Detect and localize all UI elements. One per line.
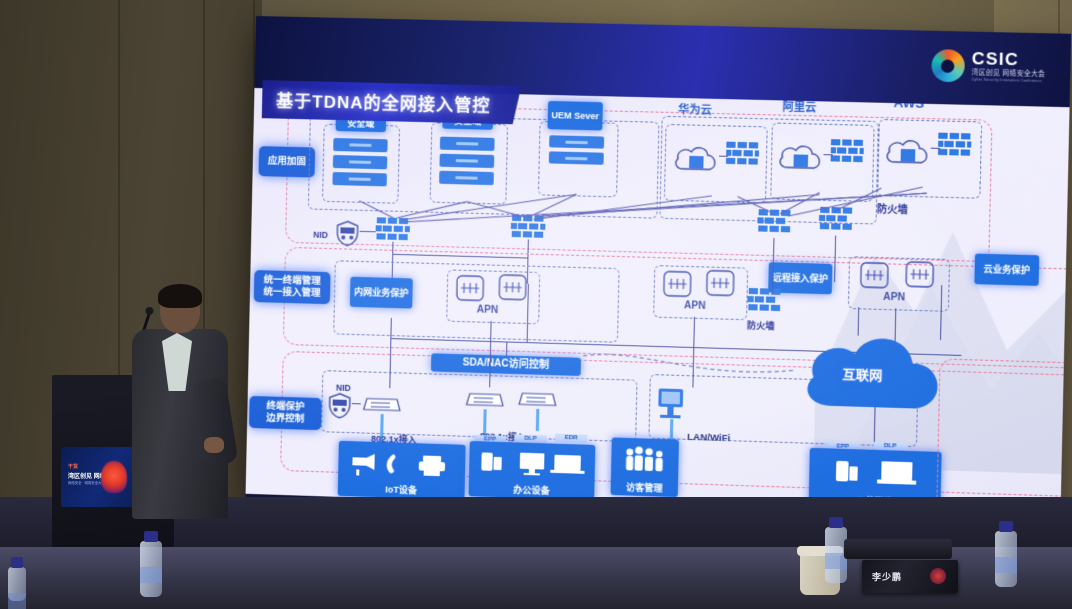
csic-spiral-logo-icon: [931, 49, 965, 82]
speaker-hair: [158, 284, 202, 308]
server-bar: [439, 154, 494, 168]
sidebar-label-application-hardening: 应用加固: [259, 146, 316, 177]
podium-text-sub: 网络安全 · 网络安全大会: [68, 480, 105, 485]
conference-hall-scene: CSIC 湾区创见 网络安全大会 Cyber Security Innovati…: [0, 0, 1072, 609]
firewall-brick-icon: [938, 133, 972, 160]
apn-label-2: APN: [684, 300, 706, 312]
cloud-label-aliyun: 阿里云: [782, 98, 816, 115]
nid-label-bottom: NID: [336, 383, 351, 393]
laptop-icon: [881, 461, 912, 480]
laptop-on-table: [844, 539, 952, 559]
server-bar: [333, 155, 388, 169]
uem-server-label: UEM Sever: [547, 101, 602, 131]
firewall-brick-icon-mid: [747, 288, 782, 317]
apn-label-1: APN: [477, 304, 499, 316]
podium-text-small: 干货: [68, 463, 78, 470]
voip-phone-icon: [387, 454, 396, 473]
nameplate: 李少鹏: [862, 560, 958, 593]
nameplate-text: 李少鹏: [862, 570, 902, 583]
zone-public-network: [936, 358, 1069, 519]
nid-shield-icon: [327, 392, 352, 419]
link-label-lan-wifi: LAN/WiFi: [687, 432, 730, 444]
server-bar: [549, 135, 604, 148]
cloud-icon: [884, 135, 932, 169]
laptop-icon: [554, 455, 581, 471]
server-bar: [332, 172, 387, 186]
tag-edr: EDR: [555, 434, 588, 443]
brand-name: CSIC: [972, 50, 1046, 69]
sidebar-label-endpoint-protection: 终端保护 边界控制: [249, 396, 322, 430]
internet-cloud-label: 互联网: [842, 364, 883, 384]
firewall-label-top: 防火墙: [877, 200, 908, 216]
office-device-icons: [479, 448, 585, 480]
router-icon: [904, 260, 936, 289]
firewall-brick-icon: [757, 209, 792, 238]
router-icon: [662, 269, 693, 298]
mobile-icon: [836, 461, 849, 482]
nid-label-top: NID: [313, 230, 328, 240]
endpoint-iot-box: IoT设备: [338, 441, 466, 500]
server-bar: [333, 138, 388, 152]
intranet-protection-label: 内网业务保护: [350, 277, 413, 309]
projection-screen: CSIC 湾区创见 网络安全大会 Cyber Security Innovati…: [246, 16, 1072, 521]
router-icon: [455, 274, 486, 303]
firewall-brick-icon: [819, 207, 855, 236]
cloud-label-huawei: 华为云: [678, 101, 712, 118]
endpoint-office-box: 办公设备: [469, 441, 596, 500]
water-bottle: [8, 567, 26, 601]
firewall-label-mid: 防火墙: [747, 318, 775, 332]
cloud-icon: [673, 142, 721, 176]
speaker: [118, 287, 238, 517]
nid-shield-icon: [335, 220, 360, 247]
cloud-service-protection-label: 云业务保护: [974, 254, 1039, 286]
apn-label-3: APN: [883, 292, 905, 304]
endpoint-office-label: 办公设备: [513, 484, 550, 496]
sidebar-label-unified-access: 统一终端管理 统一接入管理: [254, 270, 331, 304]
router-icon: [497, 273, 528, 302]
wireless-ap-icon: [655, 386, 686, 419]
printer-icon: [423, 456, 441, 463]
router-icon: [705, 269, 736, 298]
brand-subtitle-en: Cyber Security Innovation Conference: [971, 79, 1045, 84]
water-bottle: [140, 541, 162, 597]
slide-content: 应用加固 安全域 安全域 UEM Sever 华为云: [246, 88, 1070, 521]
desktop-icon: [520, 453, 545, 470]
server-bar: [549, 151, 604, 164]
csic-logo: CSIC 湾区创见 网络安全大会 Cyber Security Innovati…: [931, 49, 1046, 84]
firewall-brick-icon: [726, 142, 759, 169]
firewall-brick-icon: [830, 139, 863, 166]
public-network-icons: [834, 457, 921, 490]
mobile-icon: [481, 452, 493, 470]
router-icon: [859, 261, 891, 290]
endpoint-guest-label: 访客管理: [626, 482, 663, 494]
endpoint-iot-label: IoT设备: [385, 484, 417, 495]
people-group-icon: [623, 446, 666, 474]
server-bar: [440, 137, 495, 151]
endpoint-guest-box: 访客管理: [611, 437, 679, 497]
iot-device-icons: [350, 449, 451, 478]
cloud-icon: [777, 141, 825, 175]
water-bottle: [995, 531, 1017, 587]
slide-title: 基于TDNA的全网接入管控: [262, 80, 522, 124]
speaker-hand: [204, 437, 224, 453]
camera-icon: [352, 453, 374, 470]
server-bar: [439, 171, 494, 185]
